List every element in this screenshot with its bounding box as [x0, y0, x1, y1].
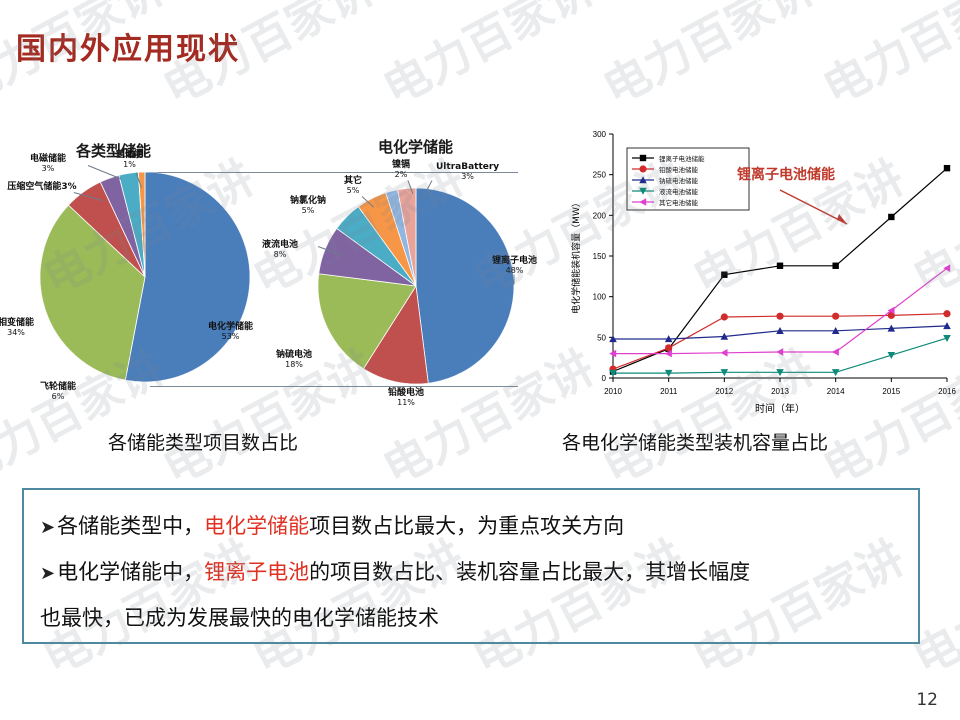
pie-label-name: 液流电池: [262, 240, 298, 250]
bullet-text: 也最快，已成为发展最快的电化学储能技术: [40, 606, 439, 630]
bullet-text: 项目数占比最大，为重点攻关方向: [309, 514, 624, 538]
pie-label-pct: 11%: [388, 398, 424, 407]
pie-label-xiangbian: 相变储能 34%: [0, 318, 34, 338]
pie-label-name: 钠硫电池: [276, 350, 312, 360]
x-tick-label: 2016: [938, 387, 956, 396]
summary-box: ➤各储能类型中，电化学储能项目数占比最大，为重点攻关方向➤电化学储能中，锂离子电…: [22, 488, 920, 644]
x-tick-label: 2015: [882, 387, 900, 396]
annotation-arrow-line: [780, 190, 847, 224]
bullet-arrow-icon: ➤: [40, 517, 55, 538]
pie-label-name: 相变储能: [0, 318, 34, 328]
pie-label-nas: 钠硫电池 18%: [276, 350, 312, 370]
legend-label: 铅酸电池储能: [659, 165, 699, 174]
data-marker: [721, 313, 728, 320]
slide-root: 国内外应用现状 各类型储能 电化学储能 电磁: [0, 0, 960, 720]
pie-chart-electrochemical-types: [318, 188, 514, 384]
pie-label-ultrabattery: UltraBattery 3%: [436, 162, 499, 182]
pie-label-pct: 3%: [61, 182, 76, 192]
annotation-arrow-head: [837, 214, 847, 224]
y-tick-label: 0: [602, 374, 607, 383]
bullet-line: 也最快，已成为发展最快的电化学储能技术: [40, 596, 902, 640]
y-tick-label: 300: [593, 130, 607, 139]
line-chart-panel: 0501001502002503002010201120122013201420…: [565, 120, 960, 440]
page-number: 12: [916, 690, 938, 710]
pie-label-pct: 3%: [30, 164, 66, 173]
pie-label-name: UltraBattery: [436, 162, 499, 172]
data-marker: [639, 165, 646, 172]
pie-label-name: 氢储能: [116, 150, 143, 160]
data-marker: [721, 272, 727, 278]
x-tick-label: 2011: [660, 387, 678, 396]
line-chart-annotation: 锂离子电池储能: [737, 164, 835, 184]
watermark-text: 电力百家讲: [370, 0, 604, 118]
pie-label-pct: 8%: [262, 250, 298, 259]
bullet-highlight-text: 电化学储能: [204, 514, 309, 538]
charts-region: 各类型储能 电化学储能 电磁储能 3%: [0, 120, 960, 480]
watermark-text: 电力百家讲: [590, 0, 824, 118]
pie-label-name: 镍镉: [392, 160, 410, 170]
pie-label-nicd: 镍镉 2%: [392, 160, 410, 180]
data-marker: [832, 348, 839, 356]
data-marker: [944, 165, 950, 171]
pie-label-name: 铅酸电池: [388, 388, 424, 398]
pie-label-lead-acid: 铅酸电池 11%: [388, 388, 424, 408]
page-title: 国内外应用现状: [16, 24, 240, 68]
pie-label-name: 其它: [344, 176, 362, 186]
pie-label-name: 电磁储能: [30, 154, 66, 164]
pie-label-feilun: 飞轮储能 6%: [40, 382, 76, 402]
pie-label-yasuo: 压缩空气储能3%: [4, 182, 80, 192]
caption-right-chart: 各电化学储能类型装机容量占比: [562, 428, 828, 455]
pie-charts-panel: 各类型储能 电化学储能 电磁储能 3%: [0, 120, 570, 440]
pie-slice-锂离子电池: [416, 188, 514, 383]
data-marker: [832, 313, 839, 320]
pie-left-svg: [40, 172, 250, 382]
pie-label-pct: 5%: [344, 186, 362, 195]
pie-label-name: 锂离子电池: [492, 256, 537, 266]
caption-left-chart: 各储能类型项目数占比: [108, 428, 298, 455]
series-line-液流电池储能: [613, 338, 947, 373]
pie-label-pct: 5%: [290, 206, 326, 215]
pie-label-dianhuaxue: 电化学储能 53%: [208, 322, 253, 342]
pie-label-name: 电化学储能: [208, 322, 253, 332]
pie-label-pct: 3%: [436, 172, 499, 181]
legend-label: 液流电池储能: [659, 187, 699, 196]
pie-right-title: 电化学储能: [378, 136, 453, 157]
data-marker: [777, 263, 783, 269]
pie-label-pct: 1%: [116, 160, 143, 169]
pie-right-svg: [318, 188, 514, 384]
pie-label-name: 压缩空气储能: [7, 182, 61, 192]
pie-label-lithium: 锂离子电池 48%: [492, 256, 537, 276]
data-marker: [776, 348, 783, 356]
x-tick-label: 2014: [827, 387, 845, 396]
pie-label-name: 钠氯化钠: [290, 196, 326, 206]
x-tick-label: 2010: [604, 387, 622, 396]
data-marker: [832, 263, 838, 269]
bullet-highlight-text: 锂离子电池: [204, 560, 309, 584]
pie-label-zebra: 钠氯化钠 5%: [290, 196, 326, 216]
y-tick-label: 100: [593, 293, 607, 302]
series-line-铅酸电池储能: [613, 314, 947, 369]
data-marker: [776, 313, 783, 320]
bullet-line: ➤各储能类型中，电化学储能项目数占比最大，为重点攻关方向: [40, 504, 902, 550]
leader-line-lithium: [514, 275, 515, 285]
x-axis-label: 时间（年）: [755, 402, 805, 415]
data-marker: [888, 214, 894, 220]
pie-label-pct: 2%: [392, 170, 410, 179]
data-marker: [640, 155, 646, 161]
y-axis-label: 电化学储能装机容量（MW）: [570, 198, 582, 314]
x-tick-label: 2012: [715, 387, 733, 396]
bullet-line: ➤电化学储能中，锂离子电池的项目数占比、装机容量占比最大，其增长幅度: [40, 550, 902, 596]
legend-label: 钠硫电池储能: [659, 176, 699, 185]
pie-label-other: 其它 5%: [344, 176, 362, 196]
series-line-其它电池储能: [613, 268, 947, 353]
pie-label-pct: 18%: [276, 360, 312, 369]
explode-line-bottom: [150, 386, 518, 387]
pie-chart-storage-types: [40, 172, 250, 382]
y-tick-label: 50: [597, 333, 606, 342]
legend-label: 锂离子电池储能: [659, 154, 705, 163]
bullet-text: 的项目数占比、装机容量占比最大，其增长幅度: [309, 560, 750, 584]
y-tick-label: 250: [593, 171, 607, 180]
pie-label-pct: 34%: [0, 328, 34, 337]
legend-label: 其它电池储能: [659, 198, 699, 207]
bullet-list: ➤各储能类型中，电化学储能项目数占比最大，为重点攻关方向➤电化学储能中，锂离子电…: [40, 504, 902, 640]
pie-label-qing: 氢储能 1%: [116, 150, 143, 170]
watermark-text: 电力百家讲: [810, 0, 960, 118]
bullet-text: 各储能类型中，: [57, 514, 204, 538]
pie-label-name: 飞轮储能: [40, 382, 76, 392]
pie-label-flow: 液流电池 8%: [262, 240, 298, 260]
data-marker: [721, 349, 728, 357]
pie-label-dianci: 电磁储能 3%: [30, 154, 66, 174]
pie-label-pct: 6%: [40, 392, 76, 401]
pie-label-pct: 48%: [492, 266, 537, 275]
bullet-arrow-icon: ➤: [40, 563, 55, 584]
x-tick-label: 2013: [771, 387, 789, 396]
data-marker: [943, 310, 950, 317]
pie-label-pct: 53%: [208, 332, 253, 341]
y-tick-label: 150: [593, 252, 607, 261]
bullet-text: 电化学储能中，: [57, 560, 204, 584]
y-tick-label: 200: [593, 211, 607, 220]
